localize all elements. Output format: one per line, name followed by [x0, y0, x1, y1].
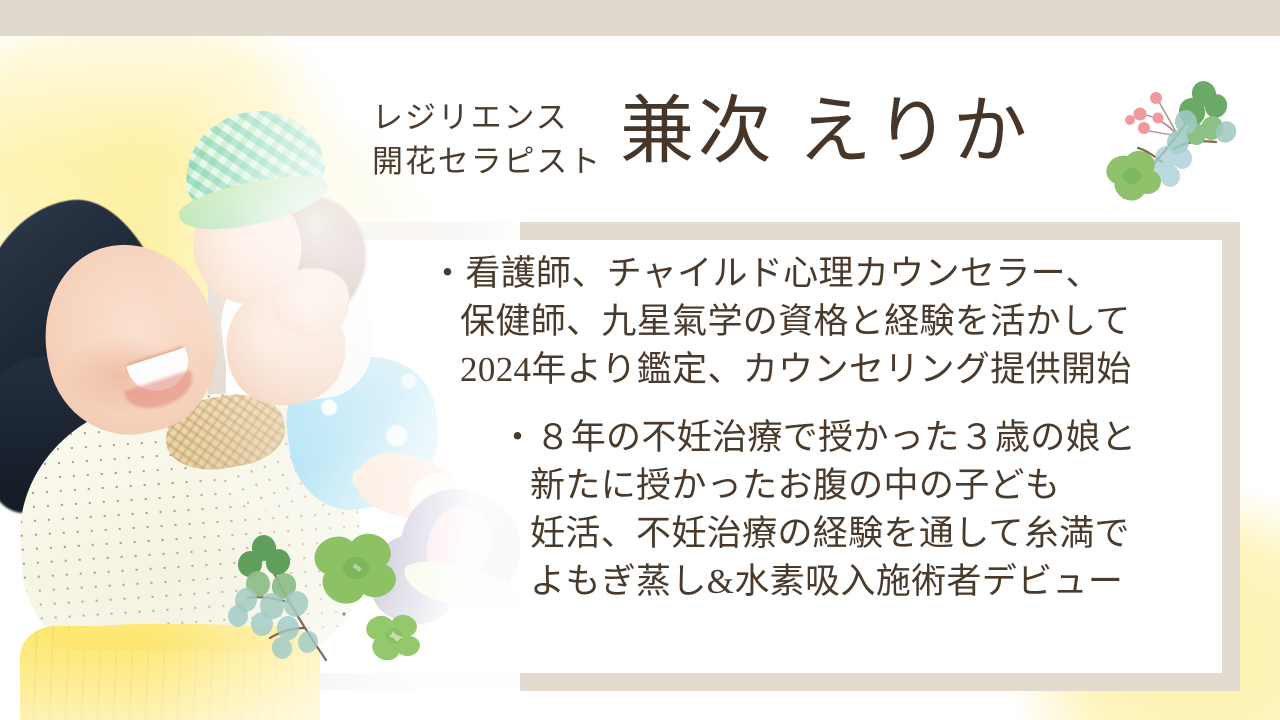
bullet-1-line-3: 2024年より鑑定、カウンセリング提供開始: [430, 346, 1230, 394]
header-name: 兼次 えりか: [620, 92, 1031, 173]
bullet-1-line-2: 保健師、九星氣学の資格と経験を活かして: [430, 298, 1230, 346]
bullet-2-line-1: ・８年の不妊治療で授かった３歳の娘と: [500, 414, 1230, 462]
bio-bullet-list: ・看護師、チャイルド心理カウンセラー、 保健師、九星氣学の資格と経験を活かして …: [430, 250, 1230, 626]
bio-bullet-item-1: ・看護師、チャイルド心理カウンセラー、 保健師、九星氣学の資格と経験を活かして …: [430, 250, 1230, 394]
bullet-1-text-1: 看護師、チャイルド心理カウンセラー、: [465, 254, 1101, 293]
header-subtitle-line-1: レジリエンス: [372, 96, 602, 140]
header-subtitle: レジリエンス 開花セラピスト: [372, 92, 602, 184]
bullet-2-text-1: ８年の不妊治療で授かった３歳の娘と: [535, 418, 1136, 457]
eucalyptus-berry-sprig-icon: [1100, 58, 1260, 213]
bullet-1-line-1: ・看護師、チャイルド心理カウンセラー、: [430, 250, 1230, 298]
bullet-1-marker: ・: [430, 254, 465, 293]
profile-banner: レジリエンス 開花セラピスト 兼次 えりか: [0, 0, 1280, 720]
bullet-2-line-4: よもぎ蒸し&水素吸入施術者デビュー: [500, 558, 1230, 606]
header-subtitle-line-2: 開花セラピスト: [372, 140, 602, 184]
bullet-2-line-2: 新たに授かったお腹の中の子ども: [500, 462, 1230, 510]
bio-bullet-item-2: ・８年の不妊治療で授かった３歳の娘と 新たに授かったお腹の中の子ども 妊活、不妊…: [500, 414, 1230, 606]
bullet-2-marker: ・: [500, 418, 535, 457]
header-title-group: レジリエンス 開花セラピスト 兼次 えりか: [372, 92, 1031, 184]
eucalyptus-clover-sprig-icon: [228, 508, 428, 668]
bullet-2-line-3: 妊活、不妊治療の経験を通して糸満で: [500, 510, 1230, 558]
top-band: [0, 0, 1280, 36]
